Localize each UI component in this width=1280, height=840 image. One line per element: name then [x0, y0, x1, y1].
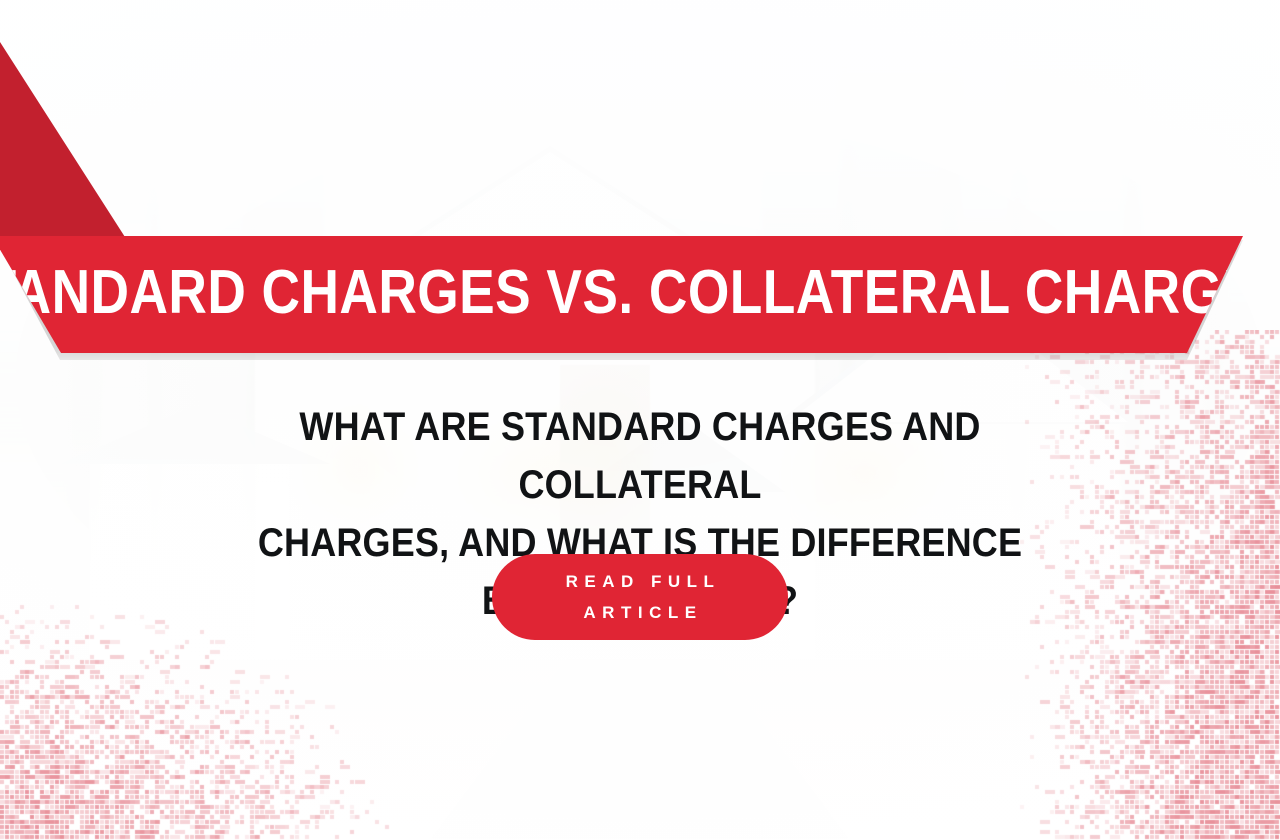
subtitle-line-1: WHAT ARE STANDARD CHARGES AND COLLATERAL — [199, 398, 1081, 514]
page-title: STANDARD CHARGES VS. COLLATERAL CHARGES — [0, 262, 1280, 328]
headline-banner: STANDARD CHARGES VS. COLLATERAL CHARGES — [0, 236, 1250, 353]
cta-label-line-2: ARTICLE — [583, 597, 702, 628]
cta-container: READ FULL ARTICLE — [0, 554, 1280, 640]
read-full-article-button[interactable]: READ FULL ARTICLE — [492, 554, 788, 640]
promo-banner-card: STANDARD CHARGES VS. COLLATERAL CHARGES … — [0, 0, 1280, 840]
cta-label-line-1: READ FULL — [566, 566, 721, 597]
